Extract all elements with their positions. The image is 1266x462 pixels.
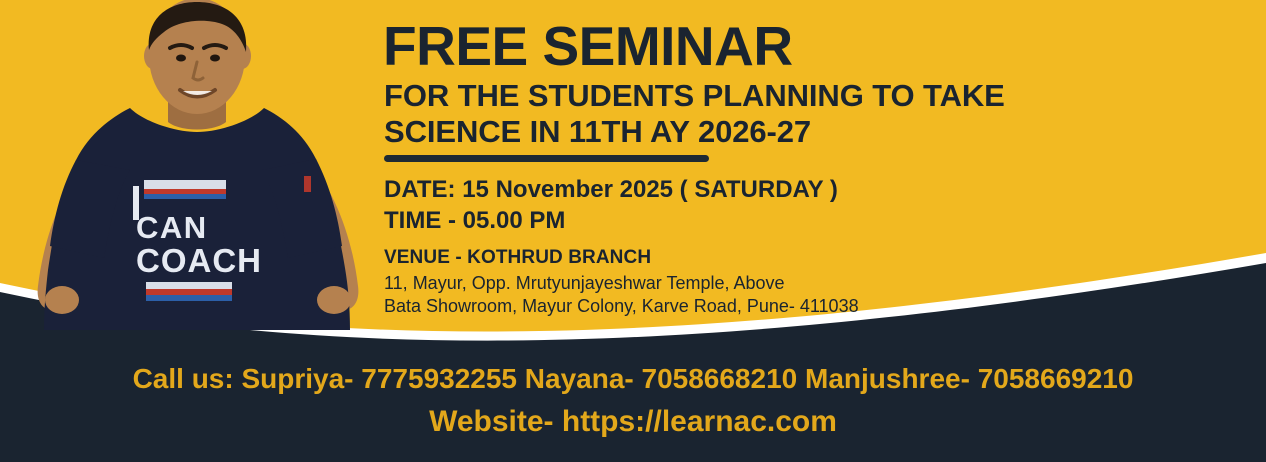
svg-text:CAN: CAN (136, 210, 208, 245)
coach-photo: CAN COACH (18, 0, 378, 340)
seminar-details: FREE SEMINAR FOR THE STUDENTS PLANNING T… (383, 0, 1223, 340)
venue-address: 11, Mayur, Opp. Mrutyunjayeshwar Temple,… (384, 272, 859, 318)
page-title: FREE SEMINAR (383, 17, 793, 75)
date-time-block: DATE: 15 November 2025 ( SATURDAY ) TIME… (384, 174, 838, 236)
date-text: DATE: 15 November 2025 ( SATURDAY ) (384, 176, 838, 203)
subheading: FOR THE STUDENTS PLANNING TO TAKE SCIENC… (384, 78, 1005, 150)
coach-photo-illustration: CAN COACH (18, 0, 378, 340)
venue-address-line-1: 11, Mayur, Opp. Mrutyunjayeshwar Temple,… (384, 273, 785, 293)
website-text[interactable]: Website- https://learnac.com (0, 398, 1266, 442)
seminar-banner: CAN COACH FREE SEMINAR FOR THE STUDENTS … (0, 0, 1266, 462)
svg-text:COACH: COACH (136, 242, 262, 279)
subheading-line-1: FOR THE STUDENTS PLANNING TO TAKE (384, 78, 1005, 113)
title-divider (384, 155, 709, 162)
venue-address-line-2: Bata Showroom, Mayur Colony, Karve Road,… (384, 295, 859, 318)
contact-footer: Call us: Supriya- 7775932255 Nayana- 705… (0, 360, 1266, 442)
venue-title: VENUE - KOTHRUD BRANCH (384, 246, 651, 270)
call-us-text: Call us: Supriya- 7775932255 Nayana- 705… (0, 360, 1266, 398)
time-text: TIME - 05.00 PM (384, 205, 838, 236)
subheading-line-2: SCIENCE IN 11TH AY 2026-27 (384, 114, 1005, 150)
